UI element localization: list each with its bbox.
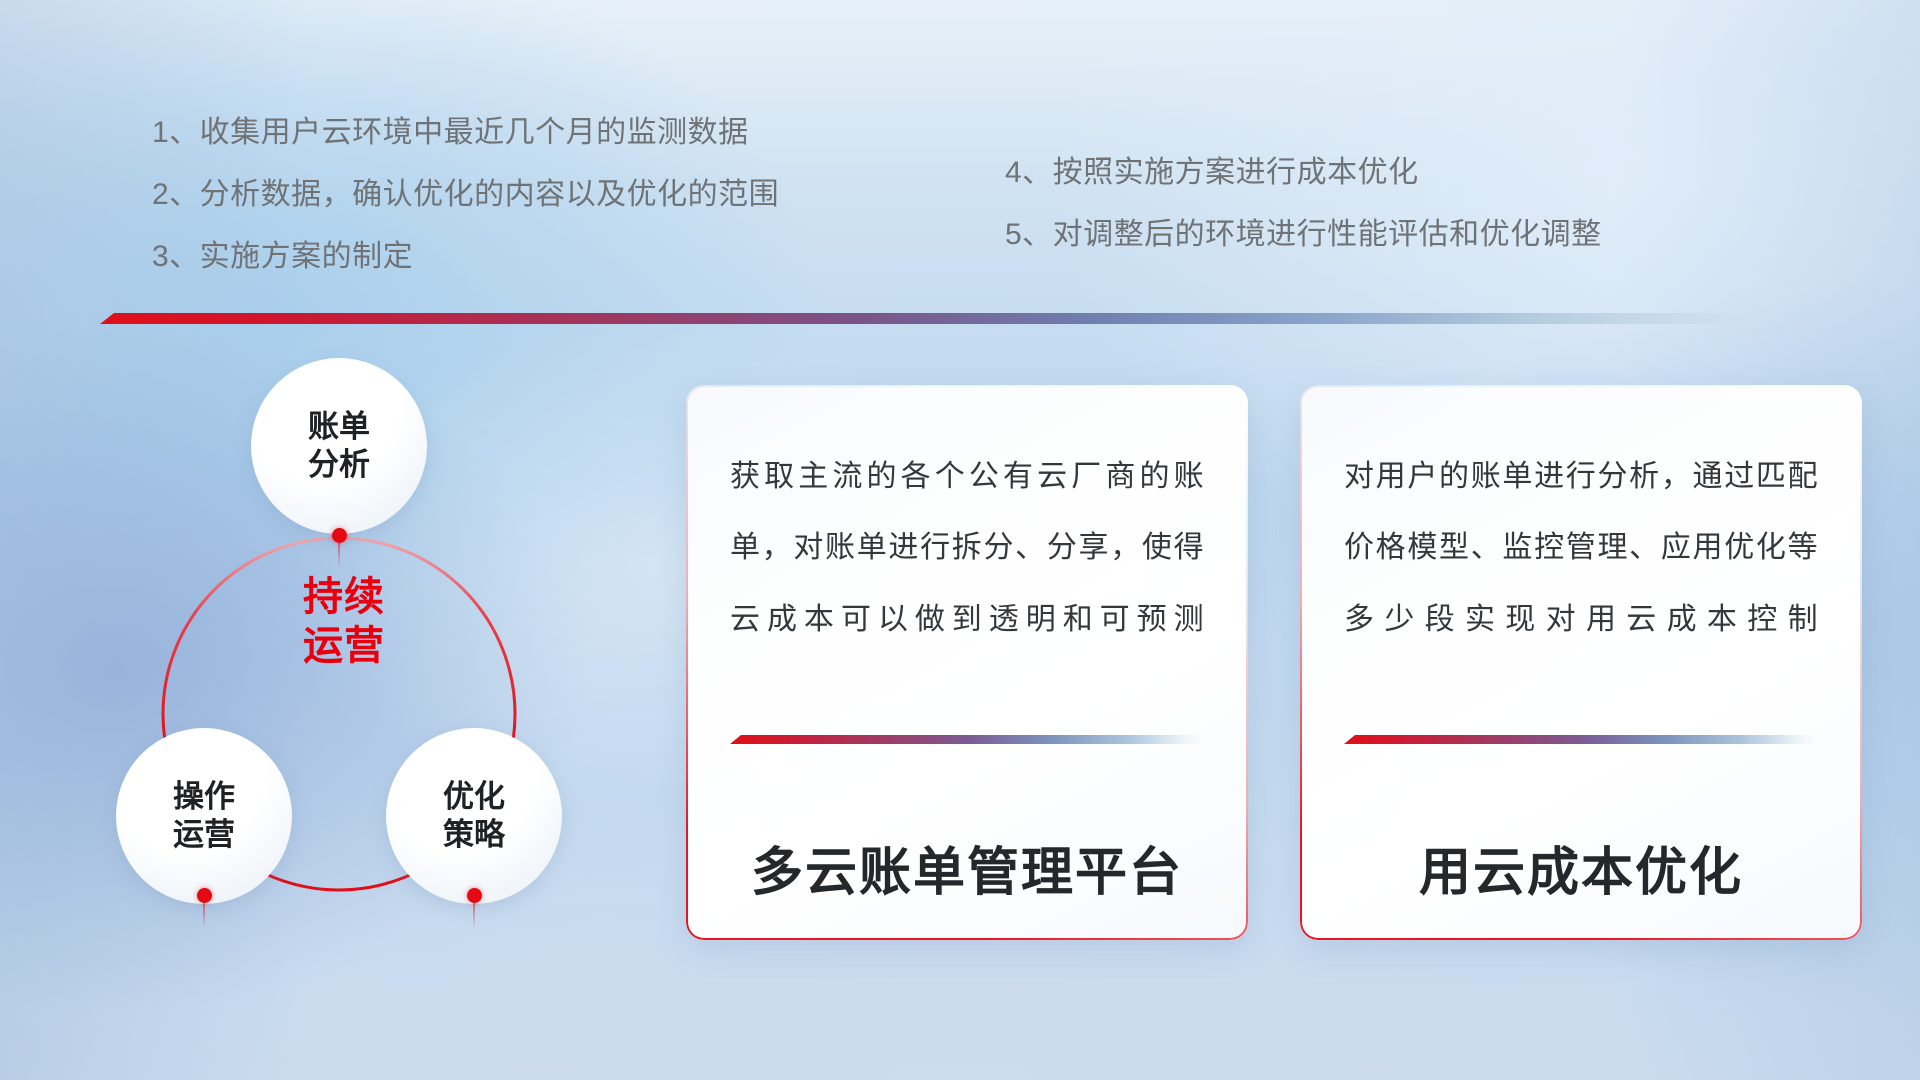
bubble-label-line1: 优化: [443, 778, 505, 816]
step-item: 4、按照实施方案进行成本优化: [1005, 158, 1602, 188]
continuous-operations-diagram: 账单 分析 操作 运营 优化 策略 持续 运营: [96, 348, 656, 948]
card-body-text: 获取主流的各个公有云厂商的账单，对账单进行拆分、分享，使得云成本可以做到透明和可…: [730, 441, 1204, 691]
bubble-billing-analysis[interactable]: 账单 分析: [251, 358, 427, 534]
card-divider: [730, 735, 1204, 744]
node-tail-top-icon: [338, 542, 340, 568]
slide-canvas: 1、收集用户云环境中最近几个月的监测数据 2、分析数据，确认优化的内容以及优化的…: [0, 0, 1920, 1080]
node-tail-right-icon: [473, 902, 475, 928]
node-tail-left-icon: [203, 902, 205, 928]
steps-list-left: 1、收集用户云环境中最近几个月的监测数据 2、分析数据，确认优化的内容以及优化的…: [152, 118, 779, 272]
bubble-label-line2: 分析: [308, 446, 370, 484]
section-divider: [100, 313, 1805, 324]
card-divider: [1344, 735, 1818, 744]
card-multi-cloud-billing-platform[interactable]: 获取主流的各个公有云厂商的账单，对账单进行拆分、分享，使得云成本可以做到透明和可…: [686, 385, 1248, 940]
step-item: 5、对调整后的环境进行性能评估和优化调整: [1005, 220, 1602, 250]
node-dot-top-icon: [332, 528, 347, 543]
bubble-label-line1: 账单: [308, 408, 370, 446]
card-cloud-cost-optimization[interactable]: 对用户的账单进行分析，通过匹配价格模型、监控管理、应用优化等多少段实现对用云成本…: [1300, 385, 1862, 940]
diagram-center-label: 持续 运营: [264, 573, 424, 671]
bubble-optimization-strategy[interactable]: 优化 策略: [386, 728, 562, 904]
bubble-label-line2: 运营: [173, 816, 235, 854]
card-body-text: 对用户的账单进行分析，通过匹配价格模型、监控管理、应用优化等多少段实现对用云成本…: [1344, 441, 1818, 691]
node-dot-left-icon: [197, 888, 212, 903]
step-item: 1、收集用户云环境中最近几个月的监测数据: [152, 118, 779, 148]
steps-list-right: 4、按照实施方案进行成本优化 5、对调整后的环境进行性能评估和优化调整: [1005, 158, 1602, 250]
center-label-line1: 持续: [264, 573, 424, 622]
card-title-text: 多云账单管理平台: [730, 830, 1204, 905]
bubble-label-line1: 操作: [173, 778, 235, 816]
center-label-line2: 运营: [264, 622, 424, 671]
bubble-operations[interactable]: 操作 运营: [116, 728, 292, 904]
card-title-text: 用云成本优化: [1344, 830, 1818, 905]
node-dot-right-icon: [467, 888, 482, 903]
bubble-label-line2: 策略: [443, 816, 505, 854]
step-item: 2、分析数据，确认优化的内容以及优化的范围: [152, 180, 779, 210]
step-item: 3、实施方案的制定: [152, 242, 779, 272]
